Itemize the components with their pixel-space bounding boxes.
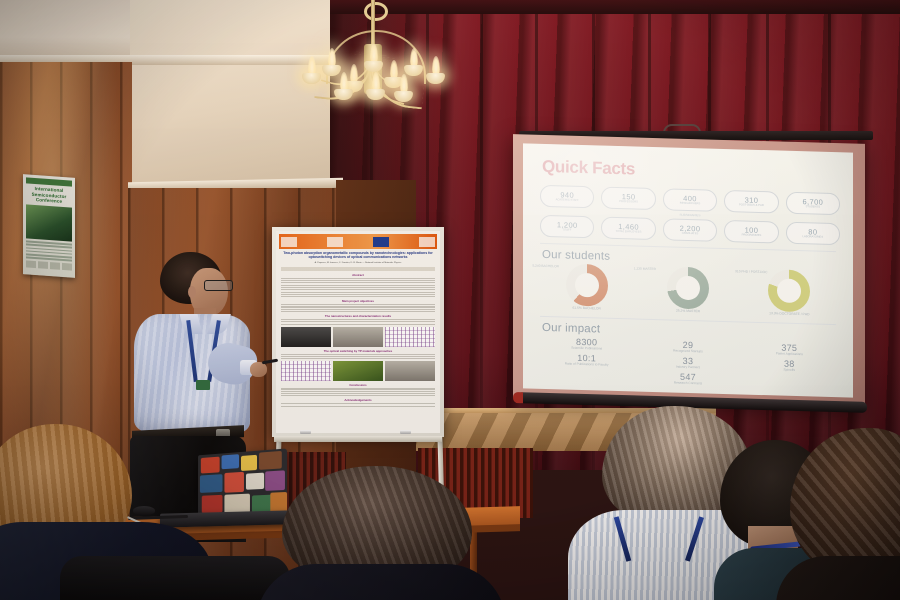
research-poster: Two-photon absorption organometallic com… xyxy=(272,227,444,437)
slide-title: Quick Facts xyxy=(542,157,840,185)
laptop-sticker xyxy=(224,472,244,493)
screen-frame: Quick Facts 940 ACADEMIC STAFF 150 PROFE… xyxy=(513,134,865,408)
conference-room-photo: International Semiconductor Conference Q… xyxy=(0,0,900,600)
donut-chart xyxy=(566,264,608,307)
poster-authors: A. Popescu, M. Ionescu, C. Dumitru, D. R… xyxy=(279,262,437,265)
donut-cell: 1,130 MASTER 25.2% MASTER xyxy=(638,266,738,316)
wall-poster-text-lines xyxy=(26,241,72,262)
chair-back xyxy=(60,556,290,600)
fact-pill: 80 LABORATORIES xyxy=(786,222,840,246)
chandelier xyxy=(286,0,462,122)
attendee-torso xyxy=(776,556,900,600)
poster-figure-sem xyxy=(333,327,383,347)
poster-affiliation-band xyxy=(281,267,435,271)
impact-item: 8300 Scientific Publications xyxy=(536,336,637,353)
fact-caption: STAFF xyxy=(563,229,571,232)
poster-board: Two-photon absorption organometallic com… xyxy=(272,227,444,437)
fact-caption: POST-DOCS & PHD xyxy=(739,204,764,208)
quick-facts-pills: 940 ACADEMIC STAFF 150 PROFESSORS 400 RE… xyxy=(540,185,840,245)
poster-switching-text xyxy=(281,354,435,360)
eu-flag-logo xyxy=(373,237,389,247)
fact-pill: 310 POST-DOCS & PHD xyxy=(724,190,778,214)
presenter-badge xyxy=(196,380,210,390)
projection-screen: Quick Facts 940 ACADEMIC STAFF 150 PROFE… xyxy=(513,131,873,416)
presenter-ear xyxy=(188,286,196,298)
laptop-sticker xyxy=(246,473,264,490)
donut-chart xyxy=(768,269,810,312)
students-donut-charts: 5,240 BACHELOR 61.5% BACHELOR 1,130 MAST… xyxy=(536,263,840,318)
fact-pill: 100 PROGRAMMES xyxy=(724,220,778,244)
poster-title: Two-photon absorption organometallic com… xyxy=(280,251,436,260)
fact-pill: 940 ACADEMIC STAFF xyxy=(540,185,594,209)
wall-poster-logos xyxy=(26,260,72,270)
chandelier-bulb xyxy=(302,58,321,84)
laptop-lid[interactable] xyxy=(198,448,287,517)
poster-section-heading: Acknowledgements xyxy=(279,398,437,402)
poster-figure-device xyxy=(385,361,435,381)
chandelier-bulb xyxy=(404,50,423,76)
poster-clip-left xyxy=(300,430,311,434)
screen-canvas: Quick Facts 940 ACADEMIC STAFF 150 PROFE… xyxy=(523,143,853,397)
poster-objectives-text xyxy=(281,304,435,312)
chandelier-bulb xyxy=(334,74,353,100)
impact-item: 10:1 Ratio of Publications to Faculty xyxy=(536,352,637,369)
conference-wall-poster: International Semiconductor Conference xyxy=(23,174,75,278)
chandelier-bulb xyxy=(364,46,383,72)
fact-pill: 6,700 STUDENTS xyxy=(786,192,840,216)
fact-caption: GRADUATES xyxy=(682,232,699,236)
poster-section-heading: The optical switching by TP materials ap… xyxy=(279,349,437,353)
fact-caption: RESEARCHERS xyxy=(680,202,700,206)
chandelier-bulb xyxy=(366,74,385,100)
laptop-sticker xyxy=(201,457,220,474)
poster-logo-header xyxy=(279,234,437,249)
fact-pill: 150 PROFESSORS xyxy=(601,187,655,211)
fact-caption: TOTAL EMPLOYEES xyxy=(616,230,642,234)
impact-item: 38 Spinoffs xyxy=(739,357,840,374)
laptop-sticker xyxy=(202,495,223,513)
donut-top-label: 310 PHD / POST-DOC xyxy=(735,270,775,275)
poster-section-heading: Main project objectives xyxy=(279,299,437,303)
fact-caption: ACADEMIC STAFF xyxy=(556,198,579,202)
fact-pill: 2,200 GRADUATES xyxy=(663,218,717,242)
poster-figure-waveguide xyxy=(333,361,383,381)
poster-figure-row xyxy=(281,361,435,381)
impact-metrics: 8300 Scientific Publications 29 Recogniz… xyxy=(536,336,840,392)
donut-bottom-label: 13.3% DOCTORATE / PHD xyxy=(739,311,839,318)
fact-pill: 1,200 STAFF xyxy=(540,215,594,239)
impact-item: 375 Patent Applications xyxy=(739,341,840,358)
poster-figure-afm xyxy=(281,327,331,347)
donut-bottom-label: 25.2% MASTER xyxy=(638,309,738,316)
poster-figure-spectra xyxy=(385,327,435,347)
funding-logo xyxy=(419,237,435,247)
easel-tray xyxy=(274,436,442,442)
impact-item: 33 Industry Partners xyxy=(637,354,738,371)
attendee-front-center xyxy=(282,466,482,600)
poster-ack-text xyxy=(281,403,435,406)
laptop-sticker xyxy=(222,454,239,469)
laptop-sticker xyxy=(200,474,223,493)
poster-content: Two-photon absorption organometallic com… xyxy=(276,231,440,433)
poster-figure-row xyxy=(281,327,435,347)
donut-top-label: 1,130 MASTER xyxy=(634,267,674,272)
poster-section-heading: The nanostructures and characterization … xyxy=(279,314,437,318)
fact-caption: PROGRAMMES xyxy=(742,234,762,238)
poster-figure-optoswitch xyxy=(281,361,331,381)
poster-conclusions-text xyxy=(281,388,435,396)
attendee-far-right-curly xyxy=(790,428,900,600)
donut-chart xyxy=(667,266,709,309)
institute-logo xyxy=(281,237,297,247)
impact-item: 29 Recognized Startups xyxy=(637,339,738,356)
fact-caption: STUDENTS xyxy=(806,205,820,208)
fact-caption: PROFESSORS xyxy=(619,200,638,204)
fact-caption: LABORATORIES xyxy=(802,235,823,239)
poster-clip-right xyxy=(400,430,411,434)
laptop-sticker xyxy=(241,455,257,471)
fact-pill: 1,460 TOTAL EMPLOYEES xyxy=(601,217,655,241)
donut-bottom-label: 61.5% BACHELOR xyxy=(537,306,637,313)
donut-cell: 310 PHD / POST-DOC 13.3% DOCTORATE / PHD xyxy=(739,268,839,318)
wall-poster-title: International Semiconductor Conference xyxy=(26,185,72,205)
poster-section-heading: Conclusions xyxy=(279,383,437,387)
donut-top-label: 5,240 BACHELOR xyxy=(533,265,573,270)
donut-cell: 5,240 BACHELOR 61.5% BACHELOR xyxy=(537,263,637,313)
chandelier-bulb xyxy=(394,76,413,102)
slide-quick-facts: Quick Facts 940 ACADEMIC STAFF 150 PROFE… xyxy=(523,143,853,397)
attendee-torso xyxy=(256,564,506,600)
chandelier-bulb xyxy=(322,50,341,76)
poster-results-text xyxy=(281,319,435,325)
chandelier-ring xyxy=(364,2,388,21)
wall-poster-image xyxy=(26,205,72,242)
poster-abstract-text xyxy=(281,278,435,297)
fact-pill: 400 RESEARCHERS xyxy=(663,188,717,212)
project-logo xyxy=(327,237,343,247)
laptop-sticker xyxy=(259,451,282,470)
poster-section-heading: Abstract xyxy=(279,273,437,277)
presenter-hand xyxy=(250,362,267,377)
chandelier-bulb xyxy=(426,58,445,84)
glasses-icon xyxy=(204,280,233,291)
